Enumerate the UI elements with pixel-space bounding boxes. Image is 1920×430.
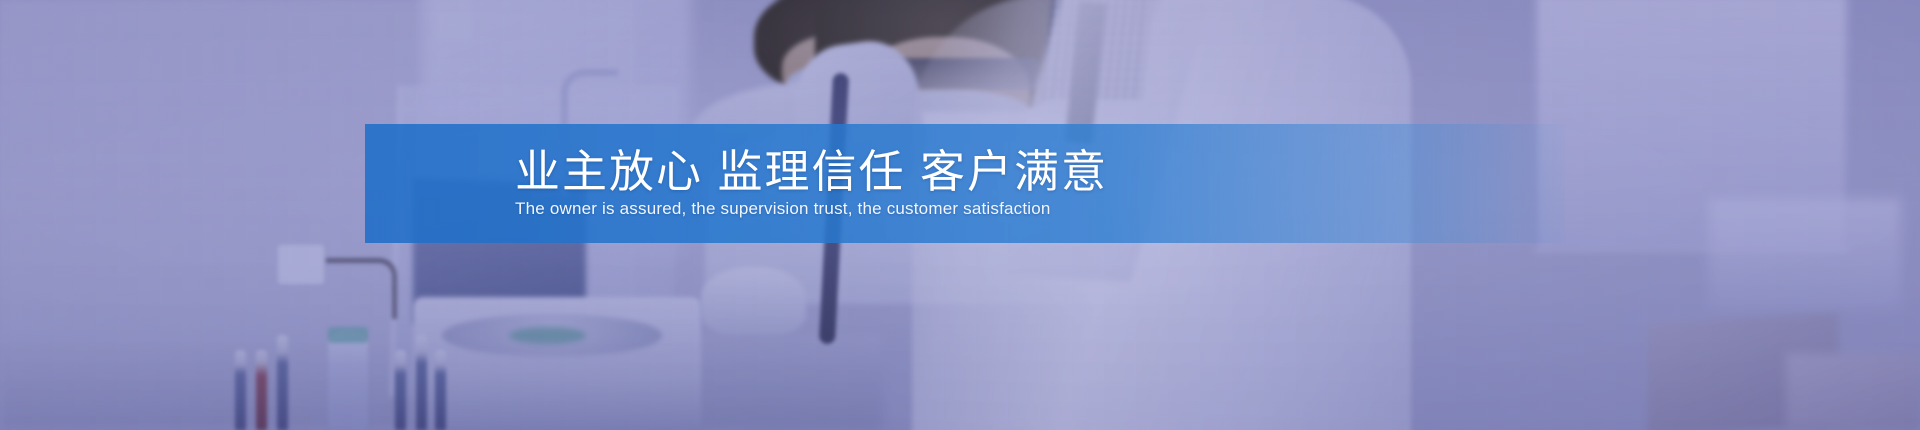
banner-headline: 业主放心 监理信任 客户满意: [515, 148, 1565, 197]
slogan-band: 业主放心 监理信任 客户满意 The owner is assured, the…: [365, 124, 1565, 243]
banner-subheadline: The owner is assured, the supervision tr…: [515, 198, 1565, 219]
hero-banner: 业主放心 监理信任 客户满意 The owner is assured, the…: [0, 0, 1920, 430]
